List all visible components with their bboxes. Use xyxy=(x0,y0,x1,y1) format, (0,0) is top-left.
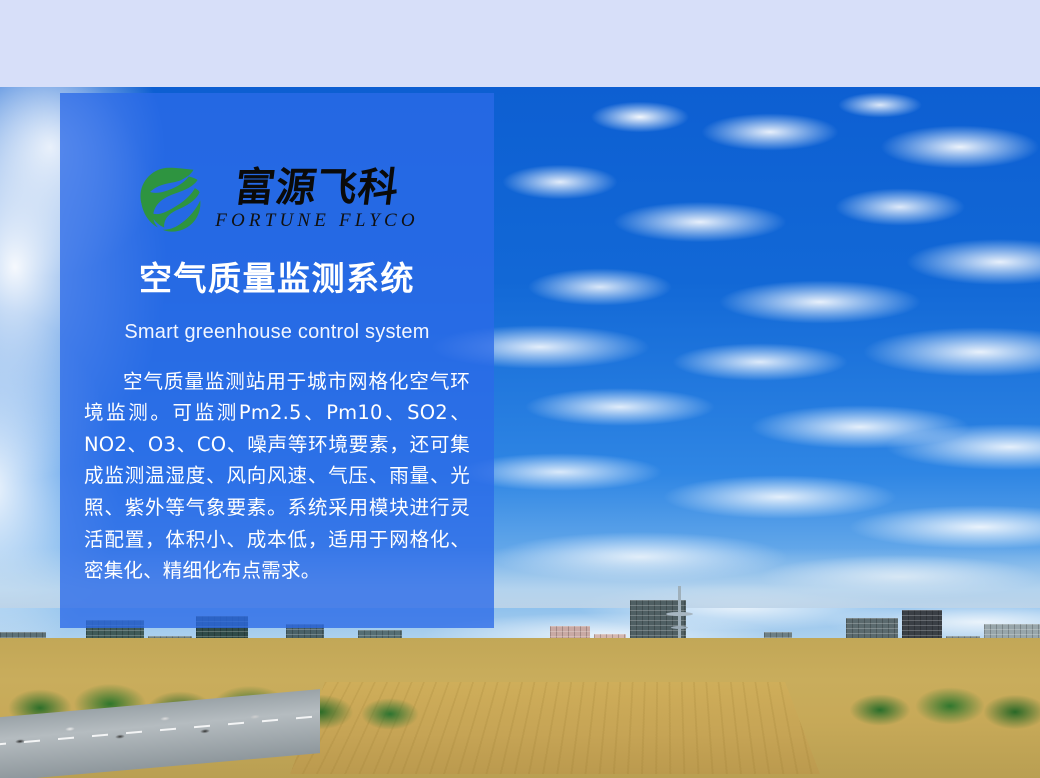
product-banner-page: 富源飞科 FORTUNE FLYCO 空气质量监测系统 Smart greenh… xyxy=(0,0,1040,778)
fortune-flyco-globe-swoosh-icon xyxy=(135,165,203,233)
page-subtitle: Smart greenhouse control system xyxy=(76,321,478,344)
brand-name-chinese: 富源飞科 xyxy=(233,168,402,208)
page-title: 空气质量监测系统 xyxy=(76,259,478,299)
brand-name-english: FORTUNE FLYCO xyxy=(215,211,419,230)
product-info-card: 富源飞科 FORTUNE FLYCO 空气质量监测系统 Smart greenh… xyxy=(60,93,494,628)
top-spacer-band xyxy=(0,0,1040,87)
product-description: 空气质量监测站用于城市网格化空气环境监测。可监测Pm2.5、Pm10、SO2、N… xyxy=(84,366,470,587)
brand-logo: 富源飞科 FORTUNE FLYCO xyxy=(76,93,478,233)
brand-wordmark: 富源飞科 FORTUNE FLYCO xyxy=(215,168,419,230)
